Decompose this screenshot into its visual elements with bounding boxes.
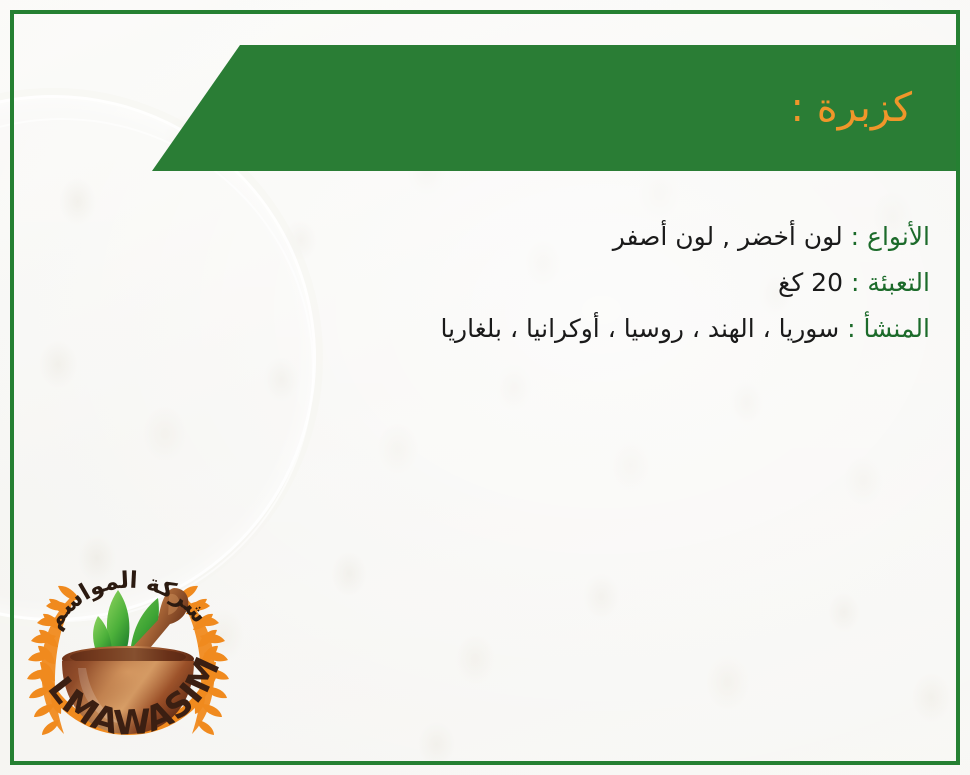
title-banner: كزبرة :: [152, 45, 958, 171]
product-info-list: الأنواع : لون أخضر , لون أصفر التعبئة : …: [440, 214, 930, 352]
info-row-types: الأنواع : لون أخضر , لون أصفر: [440, 214, 930, 260]
info-separator: :: [847, 314, 855, 343]
info-separator: :: [851, 222, 859, 251]
info-row-packing: التعبئة : 20 كغ: [440, 260, 930, 306]
info-value-packing: 20 كغ: [778, 268, 843, 297]
company-logo: شركة المواسم ALMAWASIM: [18, 528, 238, 754]
info-label-types: الأنواع: [867, 222, 930, 251]
info-value-types: لون أخضر , لون أصفر: [613, 222, 843, 251]
info-separator: :: [851, 268, 859, 297]
info-label-packing: التعبئة: [867, 268, 930, 297]
info-value-origin: سوريا ، الهند ، روسيا ، أوكرانيا ، بلغار…: [440, 314, 839, 343]
info-row-origin: المنشأ : سوريا ، الهند ، روسيا ، أوكراني…: [440, 306, 930, 352]
product-card: كزبرة : الأنواع : لون أخضر , لون أصفر ال…: [0, 0, 970, 775]
info-label-origin: المنشأ: [864, 314, 930, 343]
page-title: كزبرة :: [791, 85, 912, 131]
